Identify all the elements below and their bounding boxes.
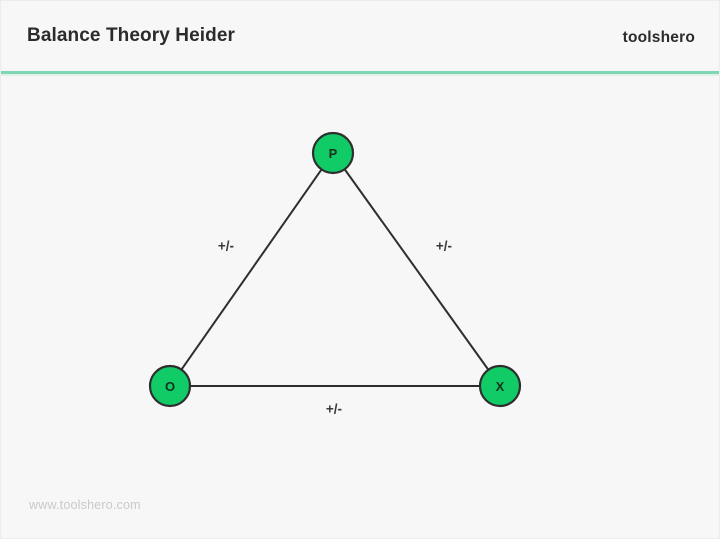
edge-label-o-x: +/- bbox=[326, 402, 342, 417]
edge-p-x bbox=[345, 169, 489, 369]
nodes-group: POX bbox=[150, 133, 520, 406]
edge-o-p bbox=[181, 169, 321, 369]
footer-url: www.toolshero.com bbox=[29, 498, 141, 512]
edge-label-p-x: +/- bbox=[436, 239, 452, 254]
node-label-p: P bbox=[329, 146, 338, 161]
node-x[interactable]: X bbox=[480, 366, 520, 406]
diagram-page: Balance Theory Heider toolshero +/-+/-+/… bbox=[0, 0, 720, 539]
diagram-canvas: +/-+/-+/- POX bbox=[1, 76, 720, 539]
edge-label-o-p: +/- bbox=[218, 239, 234, 254]
node-label-x: X bbox=[496, 379, 505, 394]
node-p[interactable]: P bbox=[313, 133, 353, 173]
page-title: Balance Theory Heider bbox=[27, 25, 235, 47]
edge-labels-group: +/-+/-+/- bbox=[218, 239, 452, 417]
edges-group bbox=[181, 169, 488, 386]
header-bar: Balance Theory Heider toolshero bbox=[1, 1, 720, 71]
node-o[interactable]: O bbox=[150, 366, 190, 406]
brand-logo: toolshero bbox=[623, 29, 695, 47]
balance-triangle-svg: +/-+/-+/- POX bbox=[1, 76, 720, 539]
node-label-o: O bbox=[165, 379, 175, 394]
